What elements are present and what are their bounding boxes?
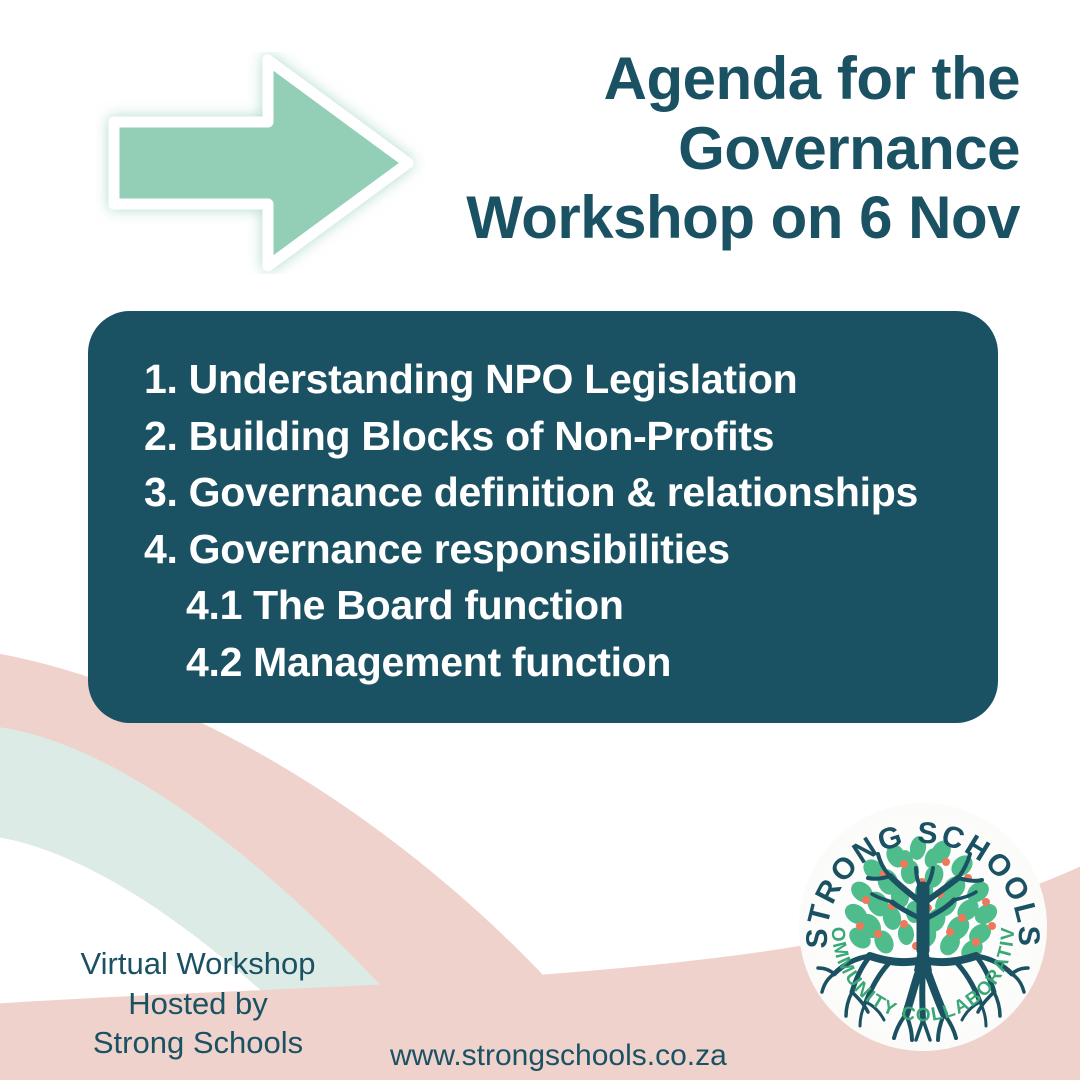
title-line-2: Governance	[400, 114, 1020, 184]
agenda-item-2: 2. Building Blocks of Non-Profits	[144, 408, 962, 465]
hosted-line-1: Virtual Workshop	[48, 944, 348, 984]
agenda-item-1: 1. Understanding NPO Legislation	[144, 351, 962, 408]
agenda-item-4-1: 4.1 The Board function	[144, 577, 962, 634]
hosted-by-block: Virtual Workshop Hosted by Strong School…	[48, 944, 348, 1063]
hosted-line-3: Strong Schools	[48, 1023, 348, 1063]
poster-canvas: Agenda for the Governance Workshop on 6 …	[0, 0, 1080, 1080]
agenda-item-4: 4. Governance responsibilities	[144, 521, 962, 578]
strong-schools-logo: STRONG SCHOOLS COMMUNITY COLLABORATIVE	[796, 800, 1050, 1054]
hosted-line-2: Hosted by	[48, 984, 348, 1024]
agenda-item-4-2: 4.2 Management function	[144, 634, 962, 691]
agenda-card: 1. Understanding NPO Legislation 2. Buil…	[88, 311, 998, 723]
website-url[interactable]: www.strongschools.co.za	[390, 1039, 727, 1073]
page-title: Agenda for the Governance Workshop on 6 …	[400, 44, 1020, 253]
right-arrow-icon	[96, 52, 426, 274]
title-line-3: Workshop on 6 Nov	[400, 183, 1020, 253]
agenda-item-3: 3. Governance definition & relationships	[144, 464, 962, 521]
title-line-1: Agenda for the	[400, 44, 1020, 114]
